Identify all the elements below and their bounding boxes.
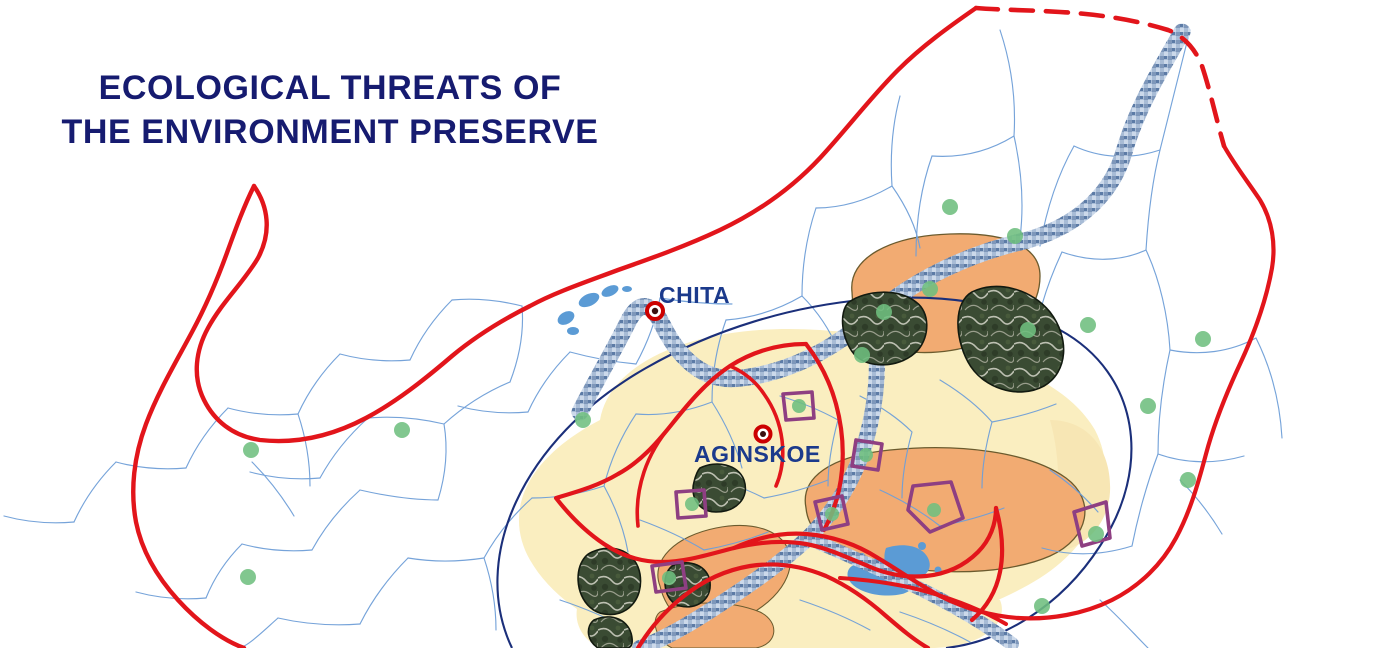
settlement-dot [662,571,676,585]
settlement-dot [1034,598,1050,614]
settlement-dot [394,422,410,438]
settlement-dot [1007,228,1023,244]
city-marker-aginskoe[interactable] [756,427,771,442]
settlement-dot [942,199,958,215]
settlement-dot [685,497,699,511]
settlement-dot [1020,322,1036,338]
settlement-dot [1089,527,1103,541]
lake-small [918,542,926,550]
settlement-dot [825,507,839,521]
lake [622,286,632,292]
city-marker-core [652,308,658,314]
settlement-dot [243,442,259,458]
settlement-dot [1195,331,1211,347]
city-marker-core [760,431,766,437]
map-page: CHITA AGINSKOE ECOLOGICAL THREATS OF THE… [0,0,1386,648]
settlement-dot [575,412,591,428]
settlement-dot [1180,472,1196,488]
settlement-dot [859,448,873,462]
settlement-dot [876,304,892,320]
settlement-dot [1080,317,1096,333]
settlement-dot [1140,398,1156,414]
settlement-dot [927,503,941,517]
city-label-aginskoe: AGINSKOE [694,441,821,467]
forest-block [693,464,745,512]
city-label-chita: CHITA [659,282,730,308]
lake [567,327,579,335]
settlement-dot [922,281,938,297]
ecological-threats-map: CHITA AGINSKOE [0,0,1386,648]
settlement-dot [792,399,806,413]
settlement-dot [854,347,870,363]
settlement-dot [240,569,256,585]
